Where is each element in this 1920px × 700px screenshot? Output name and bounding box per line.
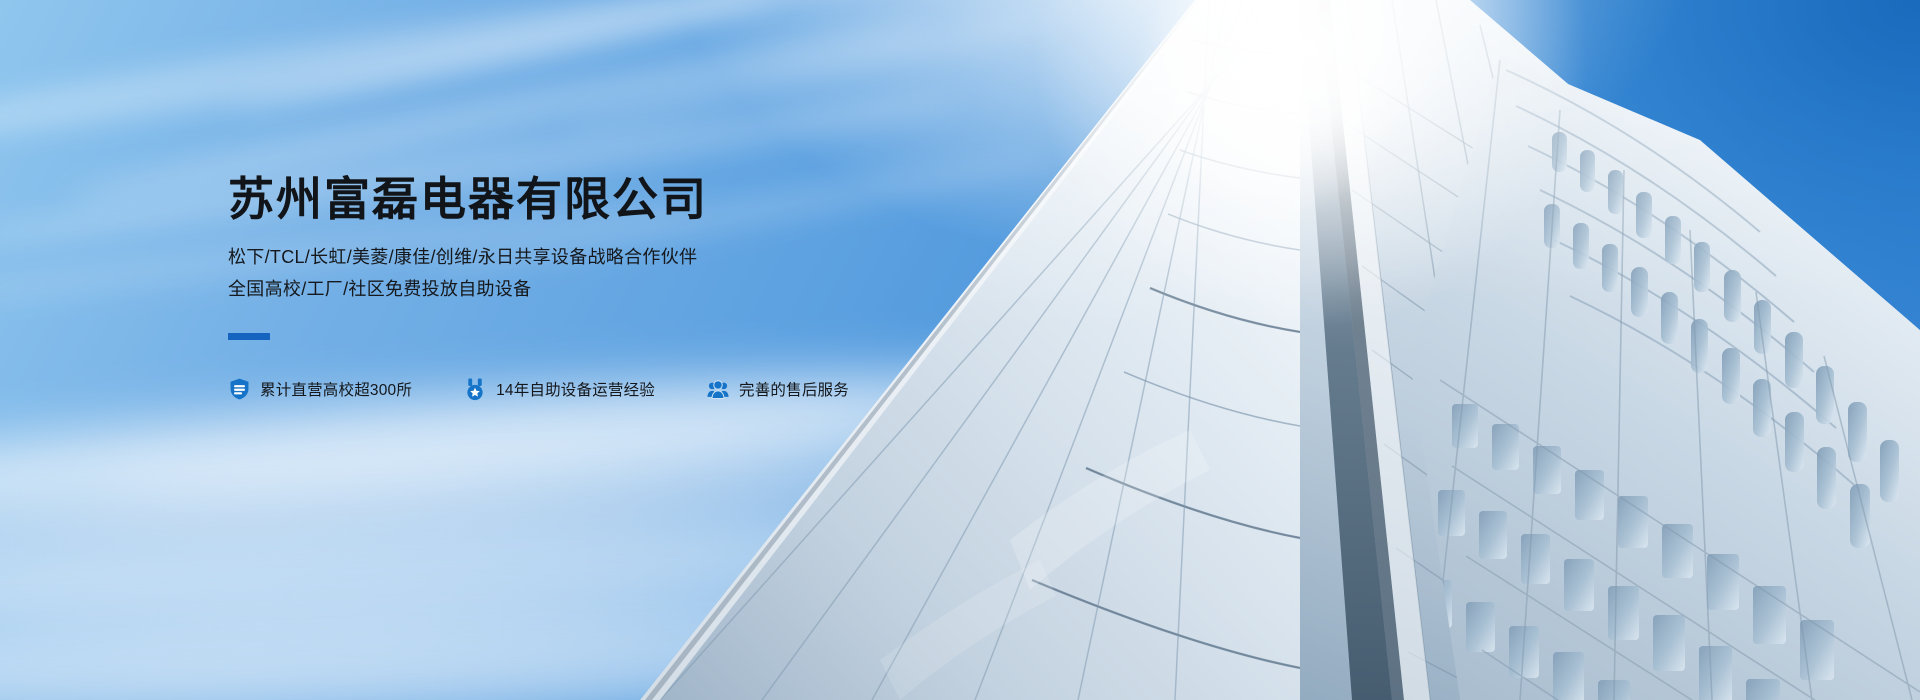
subtitle-line-1: 松下/TCL/长虹/美菱/康佳/创维/永日共享设备战略合作伙伴 bbox=[228, 241, 1048, 273]
shield-icon bbox=[228, 378, 250, 400]
accent-divider bbox=[228, 333, 270, 340]
feature-label: 14年自助设备运营经验 bbox=[496, 378, 655, 400]
users-icon bbox=[707, 378, 729, 400]
feature-item-experience: 14年自助设备运营经验 bbox=[464, 378, 655, 400]
subtitle-line-2: 全国高校/工厂/社区免费投放自助设备 bbox=[228, 273, 1048, 305]
medal-icon bbox=[464, 378, 486, 400]
hero-banner: 苏州富磊电器有限公司 松下/TCL/长虹/美菱/康佳/创维/永日共享设备战略合作… bbox=[0, 0, 1920, 700]
feature-label: 累计直营高校超300所 bbox=[260, 378, 412, 400]
banner-content: 苏州富磊电器有限公司 松下/TCL/长虹/美菱/康佳/创维/永日共享设备战略合作… bbox=[228, 172, 1048, 400]
feature-list: 累计直营高校超300所 14年自助设备运营经验 bbox=[228, 378, 1048, 400]
feature-label: 完善的售后服务 bbox=[739, 378, 849, 400]
page-title: 苏州富磊电器有限公司 bbox=[228, 172, 1048, 227]
feature-item-service: 完善的售后服务 bbox=[707, 378, 849, 400]
banner-subtitle: 松下/TCL/长虹/美菱/康佳/创维/永日共享设备战略合作伙伴 全国高校/工厂/… bbox=[228, 241, 1048, 305]
feature-item-schools: 累计直营高校超300所 bbox=[228, 378, 412, 400]
